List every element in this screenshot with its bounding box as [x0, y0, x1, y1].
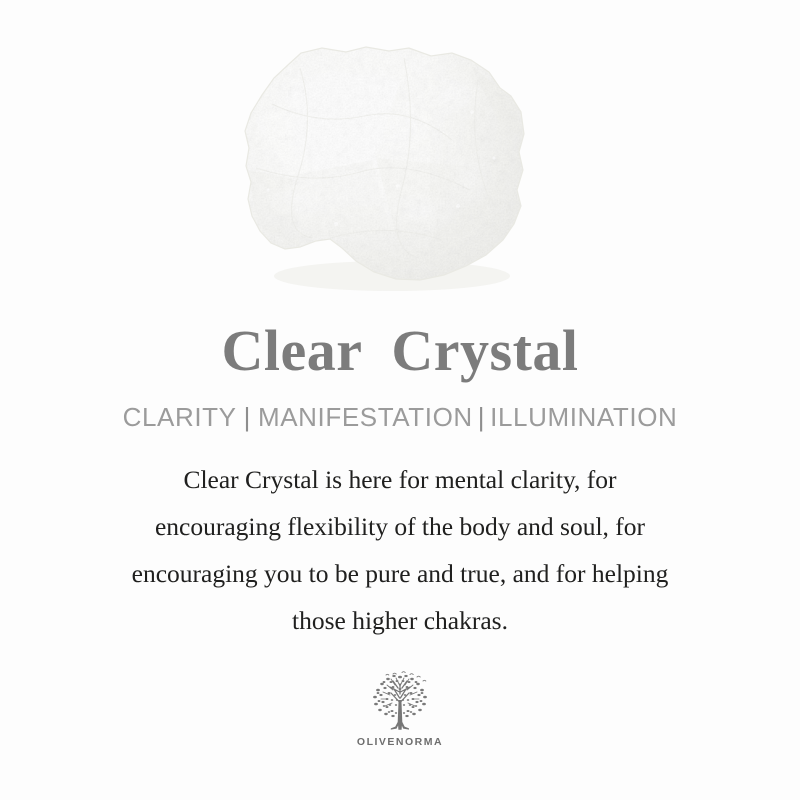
attribute-separator: | — [237, 402, 258, 432]
brand-logo: OLIVENORMA — [357, 670, 443, 748]
crystal-image-stage — [0, 0, 800, 322]
product-attributes: CLARITY|MANIFESTATION|ILLUMINATION — [123, 404, 678, 430]
attribute-illumination: ILLUMINATION — [490, 402, 677, 432]
attribute-manifestation: MANIFESTATION — [258, 402, 473, 432]
description-line: those higher chakras. — [35, 597, 765, 644]
description-line: encouraging flexibility of the body and … — [35, 503, 765, 550]
description-line: Clear Crystal is here for mental clarity… — [35, 456, 765, 503]
product-card: Clear Crystal CLARITY|MANIFESTATION|ILLU… — [0, 0, 800, 800]
attribute-clarity: CLARITY — [123, 402, 237, 432]
crystal-photo-icon — [0, 0, 800, 322]
brand-name: OLIVENORMA — [357, 737, 443, 748]
product-description: Clear Crystal is here for mental clarity… — [35, 456, 765, 644]
attribute-separator: | — [473, 402, 490, 432]
page-title: Clear Crystal — [221, 322, 578, 380]
tree-of-life-icon — [357, 670, 443, 736]
description-line: encouraging you to be pure and true, and… — [35, 550, 765, 597]
